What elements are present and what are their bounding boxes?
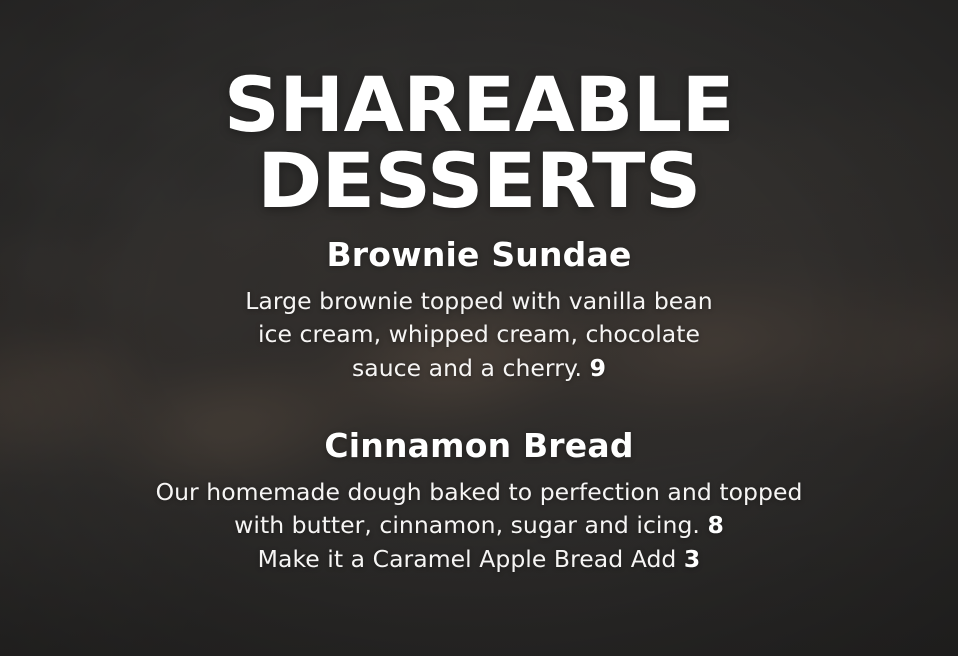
description-line: Our homemade dough baked to perfection a… <box>0 476 958 509</box>
board-title-line-shareable: SHAREABLE <box>0 68 958 142</box>
dessert-menu-board: SHAREABLE DESSERTS Brownie Sundae Large … <box>0 0 958 656</box>
item-addon-text: Make it a Caramel Apple Bread Add <box>258 545 677 573</box>
item-name: Brownie Sundae <box>0 236 958 275</box>
board-title: SHAREABLE DESSERTS <box>0 68 958 219</box>
item-name: Cinnamon Bread <box>0 427 958 466</box>
item-price: 8 <box>707 511 723 539</box>
item-price: 9 <box>590 354 606 382</box>
description-line: Large brownie topped with vanilla bean <box>0 285 958 318</box>
menu-item-list: Brownie Sundae Large brownie topped with… <box>0 236 958 576</box>
description-line-with-price: with butter, cinnamon, sugar and icing. … <box>0 509 958 542</box>
menu-item-cinnamon-bread: Cinnamon Bread Our homemade dough baked … <box>0 427 958 576</box>
item-description: Large brownie topped with vanilla bean i… <box>0 285 958 385</box>
menu-content: SHAREABLE DESSERTS Brownie Sundae Large … <box>0 0 958 656</box>
description-line-text: with butter, cinnamon, sugar and icing. <box>234 511 700 539</box>
description-line-with-price: sauce and a cherry. 9 <box>0 352 958 385</box>
description-line-text: sauce and a cherry. <box>352 354 582 382</box>
item-addon-price: 3 <box>684 545 700 573</box>
description-line: ice cream, whipped cream, chocolate <box>0 318 958 351</box>
menu-item-brownie-sundae: Brownie Sundae Large brownie topped with… <box>0 236 958 385</box>
item-addon-line: Make it a Caramel Apple Bread Add 3 <box>0 543 958 576</box>
board-title-line-desserts: DESSERTS <box>0 144 958 218</box>
item-description: Our homemade dough baked to perfection a… <box>0 476 958 576</box>
